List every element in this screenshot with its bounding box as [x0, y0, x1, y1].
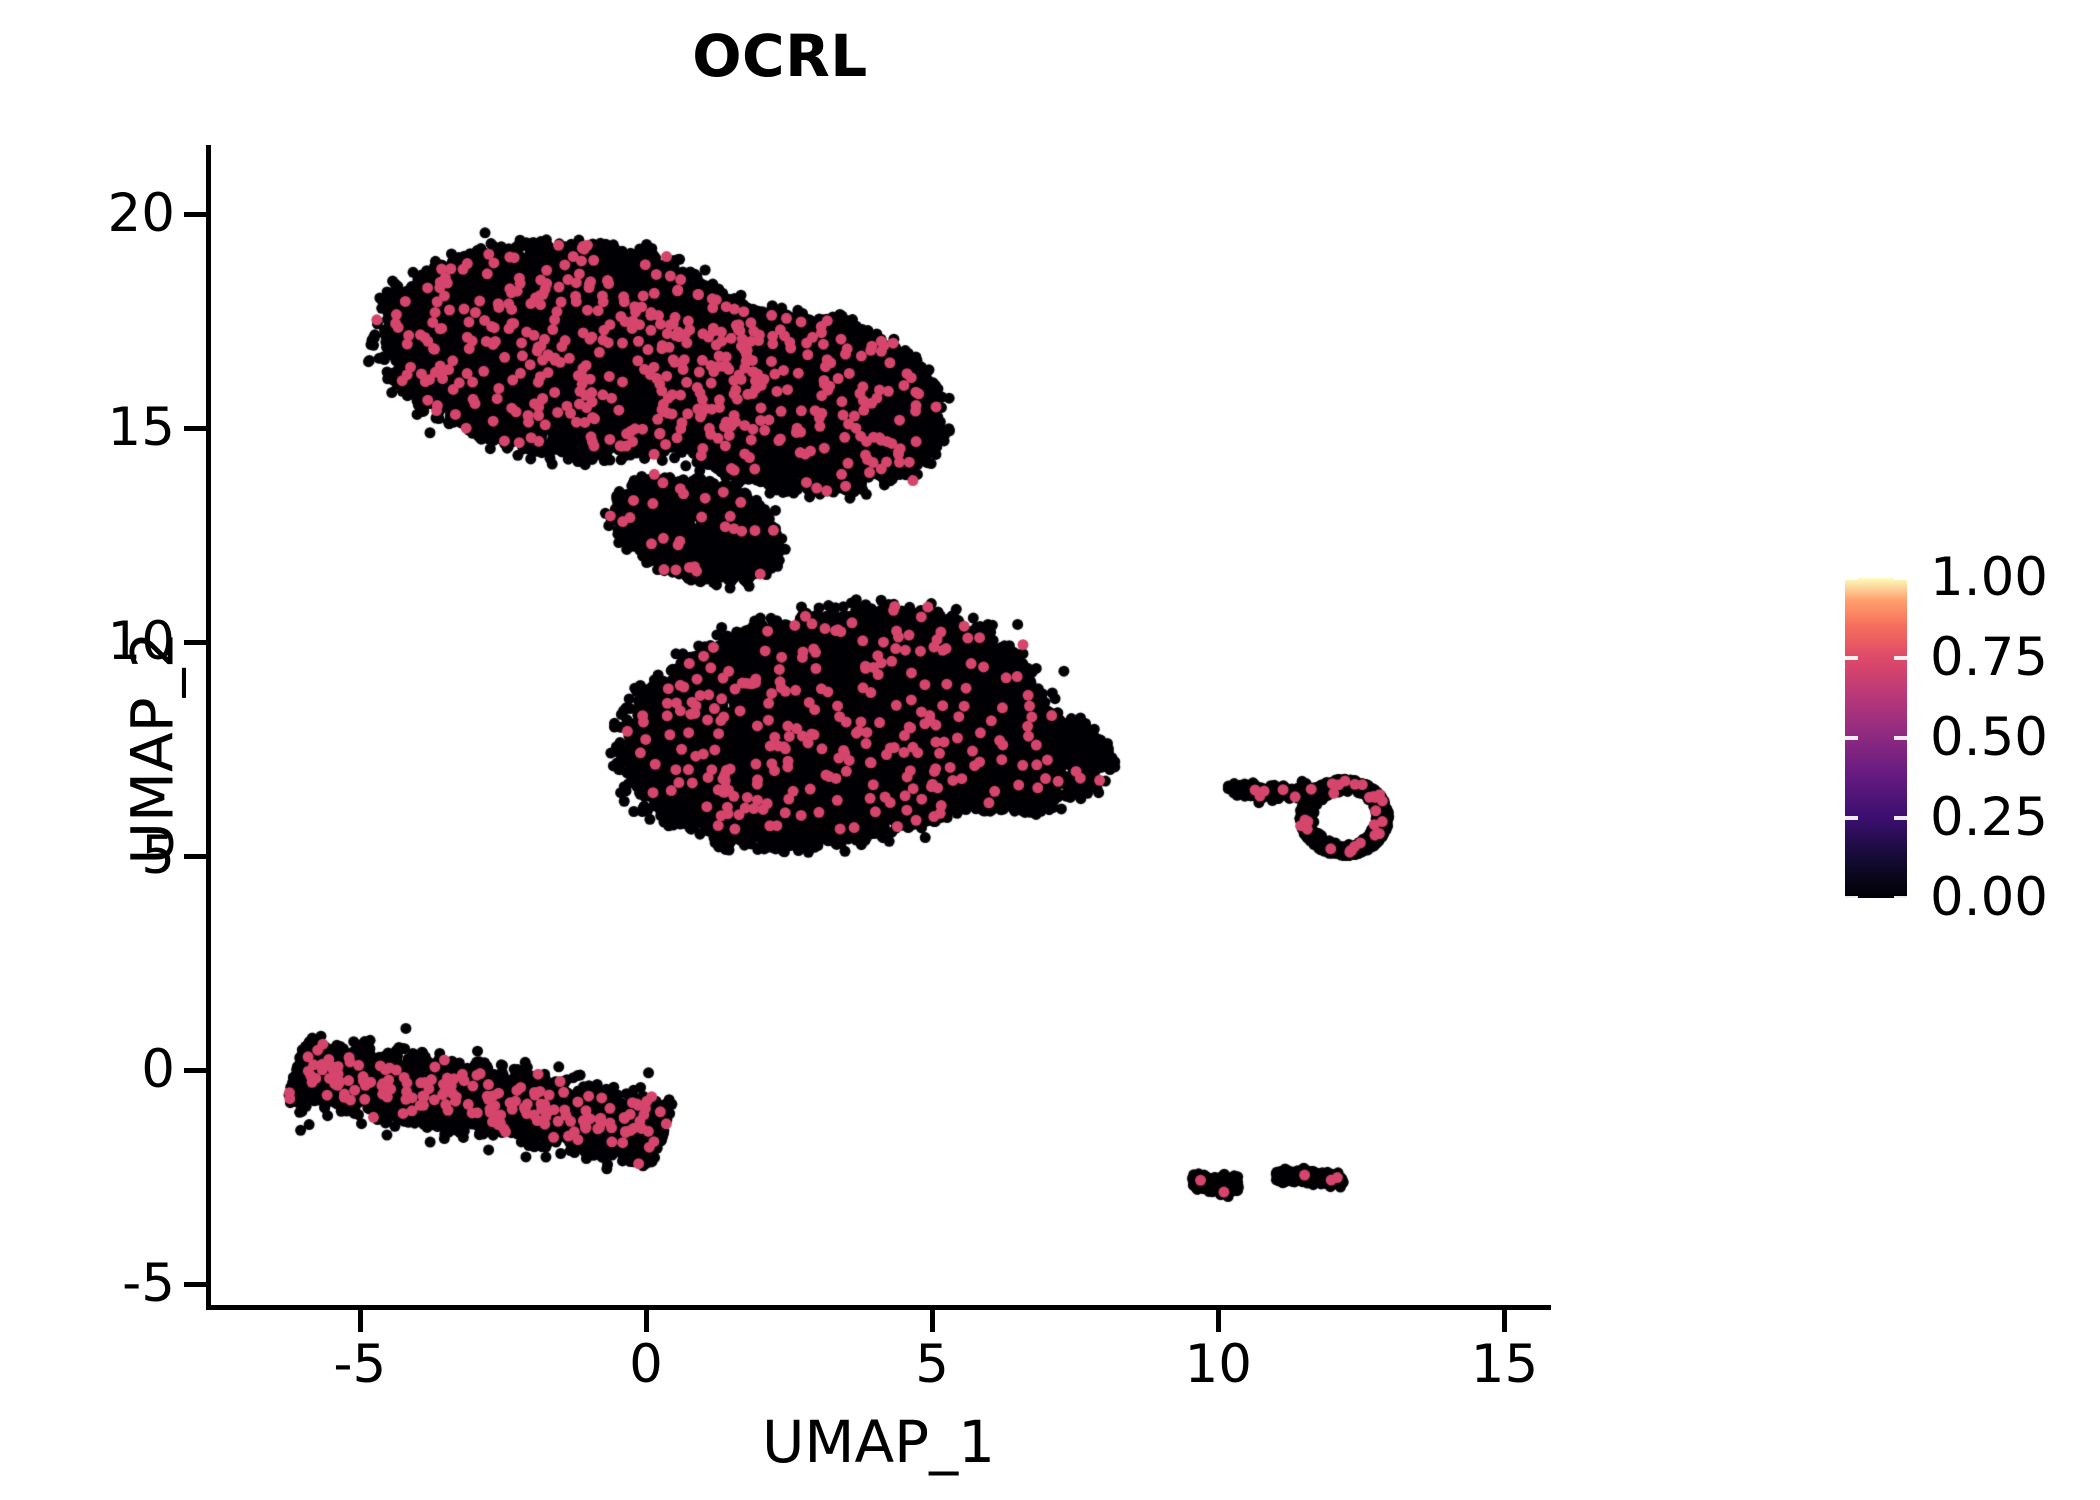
- x-tick-mark: [930, 1310, 935, 1332]
- colorbar-tick-label: 0.75: [1930, 631, 2048, 684]
- colorbar-tick-mark: [1894, 736, 1907, 740]
- colorbar-tick-label: 0.50: [1930, 711, 2048, 764]
- page-title: OCRL: [0, 22, 1560, 90]
- colorbar-tick-mark: [1845, 656, 1858, 660]
- y-tick-mark: [184, 1068, 207, 1073]
- x-axis-label: UMAP_1: [206, 1408, 1551, 1476]
- colorbar-tick-mark: [1894, 656, 1907, 660]
- x-tick-mark: [358, 1310, 363, 1332]
- colorbar-tick-label: 0.00: [1930, 871, 2048, 924]
- umap-feature-plot-figure: OCRL -505101520 -5051015 UMAP_1 UMAP_2 0…: [0, 0, 2100, 1500]
- y-tick-mark: [184, 640, 207, 645]
- x-tick-label: 15: [1424, 1338, 1584, 1391]
- y-axis-label: UMAP_2: [119, 166, 187, 1331]
- colorbar-tick-mark: [1894, 816, 1907, 820]
- colorbar-tick-label: 0.25: [1930, 791, 2048, 844]
- colorbar-tick-mark: [1845, 896, 1858, 900]
- x-axis-spine: [206, 1305, 1551, 1310]
- x-tick-mark: [644, 1310, 649, 1332]
- colorbar-tick-mark: [1845, 736, 1858, 740]
- colorbar-tick-mark: [1845, 576, 1858, 580]
- y-axis-spine: [206, 145, 211, 1310]
- x-tick-label: -5: [280, 1338, 440, 1391]
- y-tick-mark: [184, 1282, 207, 1287]
- x-tick-label: 5: [852, 1338, 1012, 1391]
- scatter-plot-canvas: [211, 145, 1556, 1310]
- colorbar-tick-label: 1.00: [1930, 551, 2048, 604]
- colorbar-tick-mark: [1845, 816, 1858, 820]
- y-tick-mark: [184, 854, 207, 859]
- colorbar-tick-mark: [1894, 896, 1907, 900]
- x-tick-label: 0: [566, 1338, 726, 1391]
- x-tick-mark: [1216, 1310, 1221, 1332]
- x-tick-label: 10: [1138, 1338, 1298, 1391]
- y-tick-mark: [184, 426, 207, 431]
- x-tick-mark: [1502, 1310, 1507, 1332]
- colorbar-tick-mark: [1894, 576, 1907, 580]
- colorbar: [1845, 578, 1907, 898]
- y-tick-mark: [184, 212, 207, 217]
